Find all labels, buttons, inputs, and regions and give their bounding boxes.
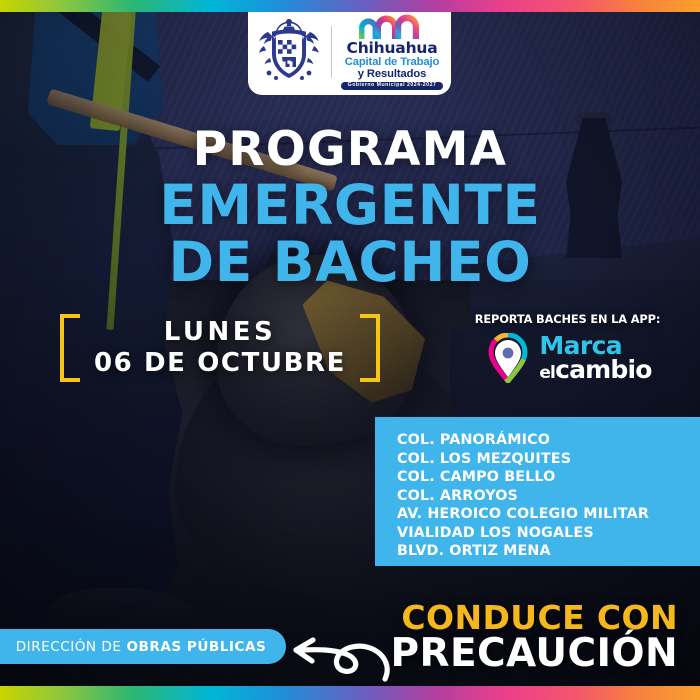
chihuahua-coat-of-arms: VALOR LEALTAD: [256, 16, 322, 88]
marca-el-cambio-logo[interactable]: Marca elcambio: [455, 333, 680, 383]
logo-divider: [331, 26, 332, 78]
chihuahua-m-arch-logo: [355, 14, 429, 40]
app-name-line1: Marca: [539, 334, 622, 357]
app-name-line2: elcambio: [539, 358, 651, 382]
bottom-rainbow-bar: [0, 686, 700, 700]
top-rainbow-bar: [0, 0, 700, 12]
list-item: COL. LOS MEZQUITES: [397, 450, 700, 469]
warning-line-2: PRECAUCIÓN: [391, 634, 678, 674]
brand-city-name: Chihuahua: [347, 41, 438, 57]
warning-line-1: CONDUCE CON: [391, 601, 678, 635]
list-item: VIALIDAD LOS NOGALES: [397, 524, 700, 543]
date-text-group: LUNES 06 DE OCTUBRE: [80, 317, 360, 378]
app-name-el: el: [539, 363, 555, 383]
headline-block: PROGRAMA EMERGENTE DE BACHEO: [0, 127, 700, 290]
date-block: LUNES 06 DE OCTUBRE: [60, 308, 380, 388]
app-name-cambio: cambio: [555, 355, 652, 384]
app-kicker-text: REPORTA BACHES EN LA APP:: [455, 312, 680, 326]
svg-text:VALOR LEALTAD: VALOR LEALTAD: [273, 35, 304, 39]
marca-el-cambio-wordmark: Marca elcambio: [539, 334, 651, 382]
brand-government-label: Gobierno Municipal 2024-2027: [341, 82, 444, 90]
report-app-block: REPORTA BACHES EN LA APP: Marca elcambio: [455, 312, 680, 383]
bracket-left-icon: [60, 314, 80, 382]
headline-line-1: PROGRAMA: [0, 127, 700, 173]
department-name: OBRAS PÚBLICAS: [126, 639, 266, 655]
bracket-right-icon: [360, 314, 380, 382]
poster-canvas: VALOR LEALTAD: [0, 0, 700, 700]
list-item: COL. ARROYOS: [397, 487, 700, 506]
street-list-panel: COL. PANORÁMICO COL. LOS MEZQUITES COL. …: [375, 417, 700, 566]
map-pin-icon: [483, 333, 533, 383]
date-full: 06 DE OCTUBRE: [84, 348, 356, 379]
headline-line-3: DE BACHEO: [0, 234, 700, 291]
chihuahua-brand-block: Chihuahua Capital de Trabajo y Resultado…: [341, 14, 444, 90]
drive-safely-block: CONDUCE CON PRECAUCIÓN: [391, 601, 678, 674]
brand-tagline-line1: Capital de Trabajo: [345, 57, 440, 68]
list-item: COL. PANORÁMICO: [397, 431, 700, 450]
date-weekday: LUNES: [84, 317, 356, 348]
department-prefix: DIRECCIÓN DE: [16, 639, 122, 655]
government-logo-card: VALOR LEALTAD: [248, 11, 451, 95]
department-pill: DIRECCIÓN DE OBRAS PÚBLICAS: [0, 629, 286, 664]
list-item: AV. HEROICO COLEGIO MILITAR: [397, 505, 700, 524]
curved-arrow-icon: [282, 616, 392, 686]
headline-line-2: EMERGENTE: [0, 177, 700, 234]
list-item: BLVD. ORTIZ MENA: [397, 542, 700, 561]
street-list: COL. PANORÁMICO COL. LOS MEZQUITES COL. …: [397, 431, 700, 561]
brand-tagline-line2: y Resultados: [358, 69, 426, 80]
list-item: COL. CAMPO BELLO: [397, 468, 700, 487]
